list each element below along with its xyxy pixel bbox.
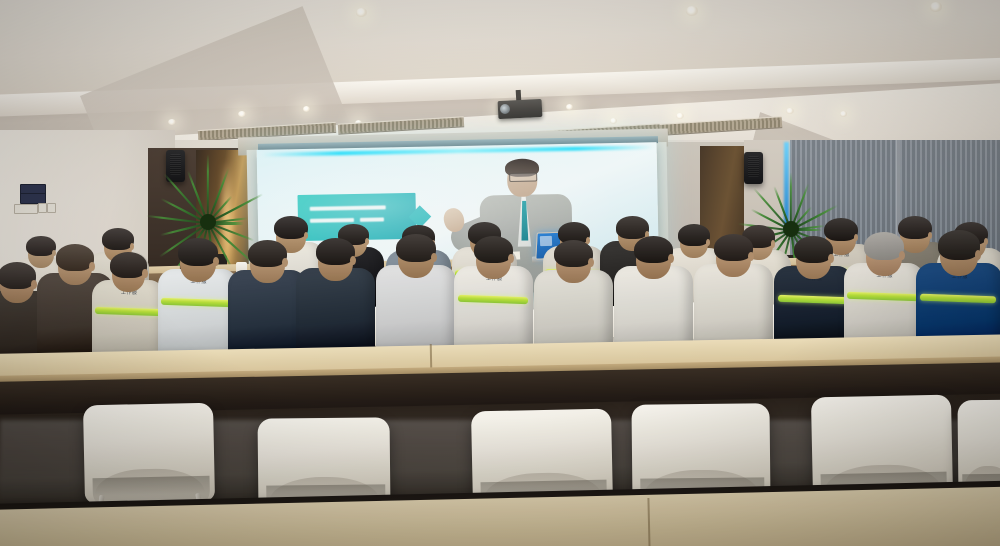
chair-foreground[interactable] [83, 403, 215, 504]
photo-scene: 工作服工作服工作服工作服 工作服工作服工作服工作服工作服工作服 Corporat… [0, 0, 1000, 546]
chair-row-front[interactable] [0, 0, 1000, 546]
